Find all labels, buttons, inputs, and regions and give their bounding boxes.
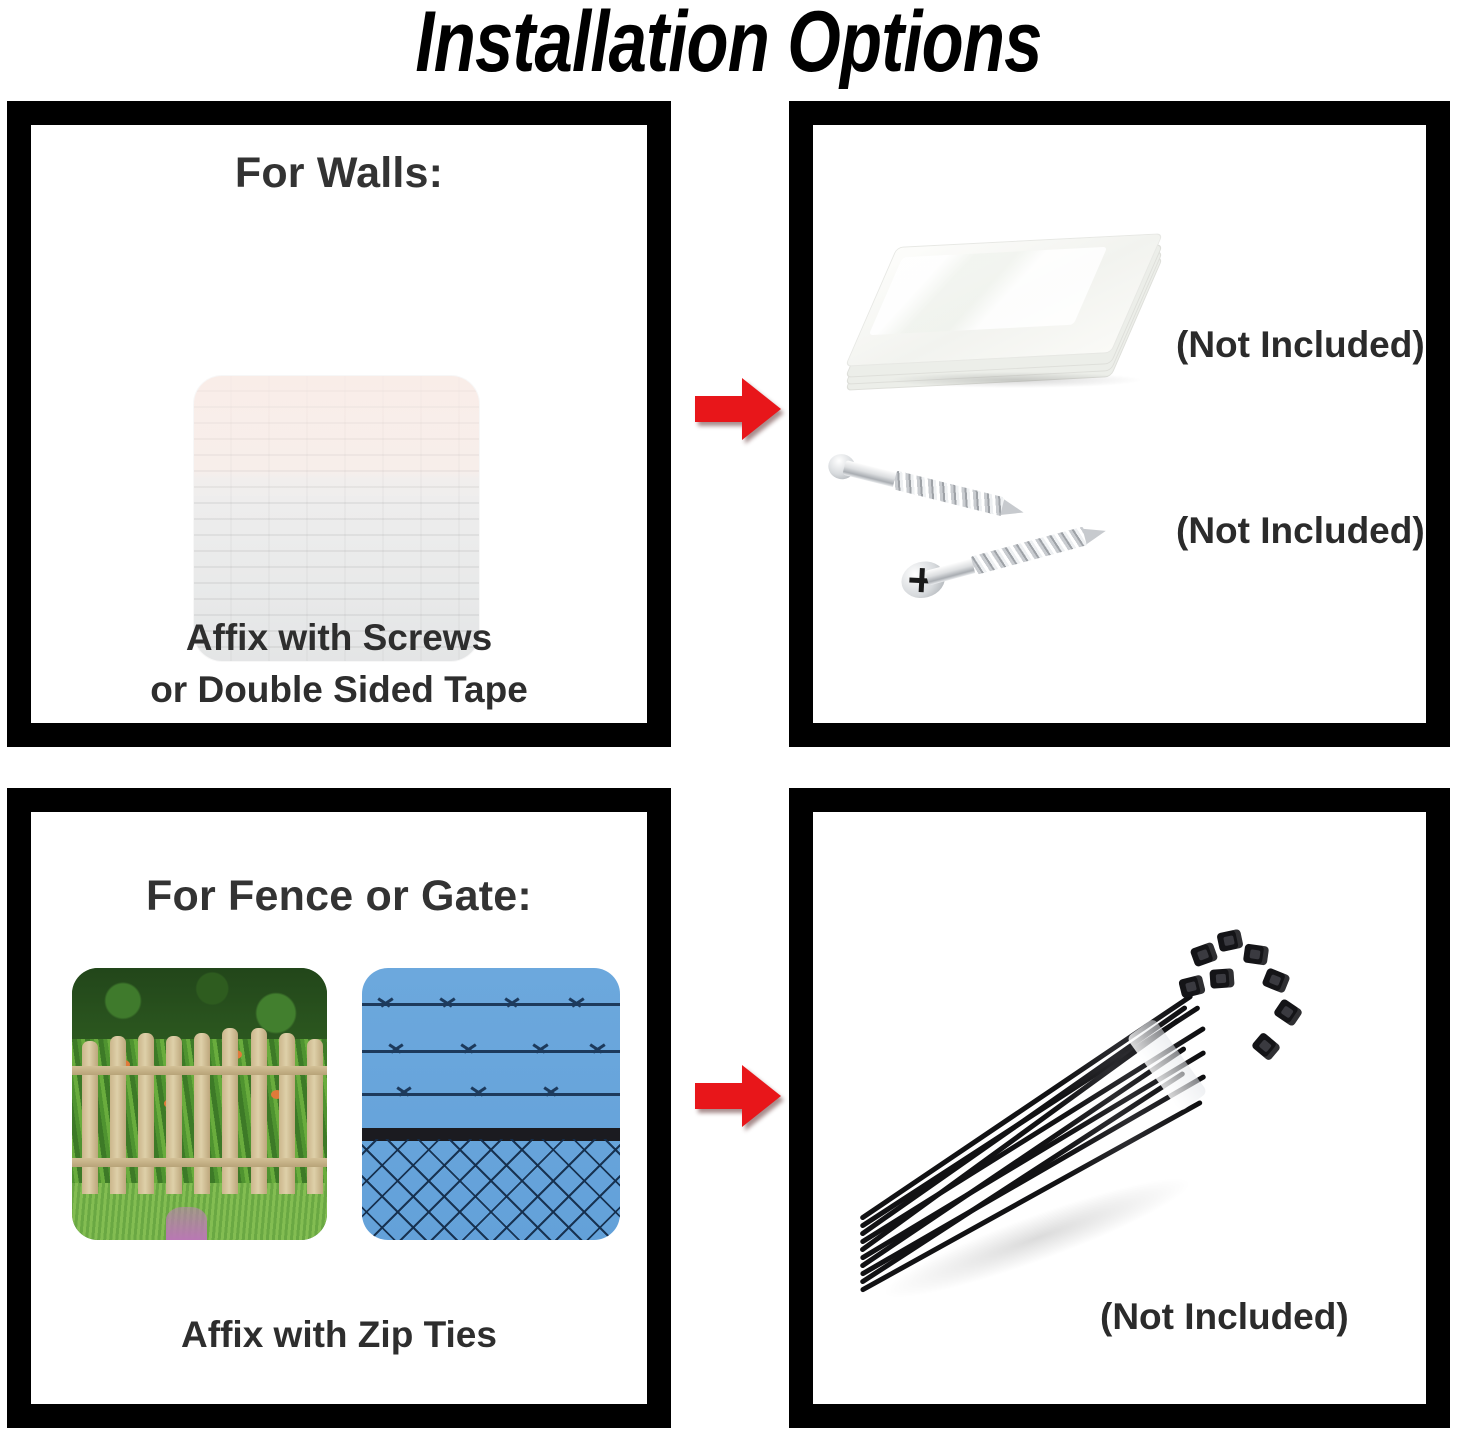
fence-path — [166, 1207, 207, 1240]
chain-link-barbed-wire-fence-photo — [362, 968, 620, 1240]
zip-tie-head — [1251, 1032, 1282, 1062]
page-title: Installation Options — [146, 0, 1312, 88]
zip-tie-head — [1273, 998, 1304, 1027]
zip-tie-head — [1216, 929, 1243, 953]
brick-warm-tint — [194, 376, 479, 496]
zip-ties-not-included-label: (Not Included) — [1100, 1296, 1349, 1338]
zip-tie-head — [1189, 941, 1218, 967]
fence-picket — [194, 1033, 210, 1194]
zip-tie-head — [1178, 974, 1206, 998]
zip-tie-head — [1261, 967, 1290, 994]
panel-wall-hardware-inner — [813, 125, 1426, 723]
tape-drop-shadow — [890, 372, 1140, 388]
for-walls-caption-line2: or Double Sided Tape — [31, 664, 647, 716]
panel-wall-hardware — [789, 101, 1450, 747]
fence-picket — [251, 1028, 267, 1194]
screws-not-included-label: (Not Included) — [1176, 510, 1425, 552]
fence-picket — [222, 1028, 238, 1194]
fence-picket — [110, 1036, 126, 1194]
double-sided-tape-stack-photo — [866, 236, 1166, 406]
chain-link-mesh — [362, 1139, 620, 1240]
zip-tie-head — [1209, 968, 1234, 989]
fence-picket — [279, 1033, 295, 1194]
panel-for-walls: For Walls: Affix with Screws or Double S… — [7, 101, 671, 747]
for-walls-caption-line1: Affix with Screws — [31, 612, 647, 664]
zip-tie-head — [1243, 943, 1269, 965]
black-zip-ties-bundle-photo — [862, 915, 1332, 1305]
red-arrow-right-icon — [695, 1063, 781, 1129]
tape-not-included-label: (Not Included) — [1176, 324, 1425, 366]
fence-picket — [82, 1041, 98, 1193]
fence-rail-top — [72, 1066, 327, 1075]
for-fence-heading: For Fence or Gate: — [31, 872, 647, 921]
fence-rail-bottom — [72, 1158, 327, 1167]
for-walls-heading: For Walls: — [31, 149, 647, 198]
fence-picket — [307, 1039, 323, 1194]
fence-picket — [166, 1036, 182, 1194]
for-fence-caption: Affix with Zip Ties — [31, 1309, 647, 1361]
panel-for-walls-inner: For Walls: Affix with Screws or Double S… — [31, 125, 647, 723]
wooden-picket-fence-photo — [72, 968, 327, 1240]
fence-picket — [138, 1033, 154, 1194]
tape-surface-sheen — [869, 247, 1108, 335]
red-arrow-right-icon — [695, 376, 781, 442]
